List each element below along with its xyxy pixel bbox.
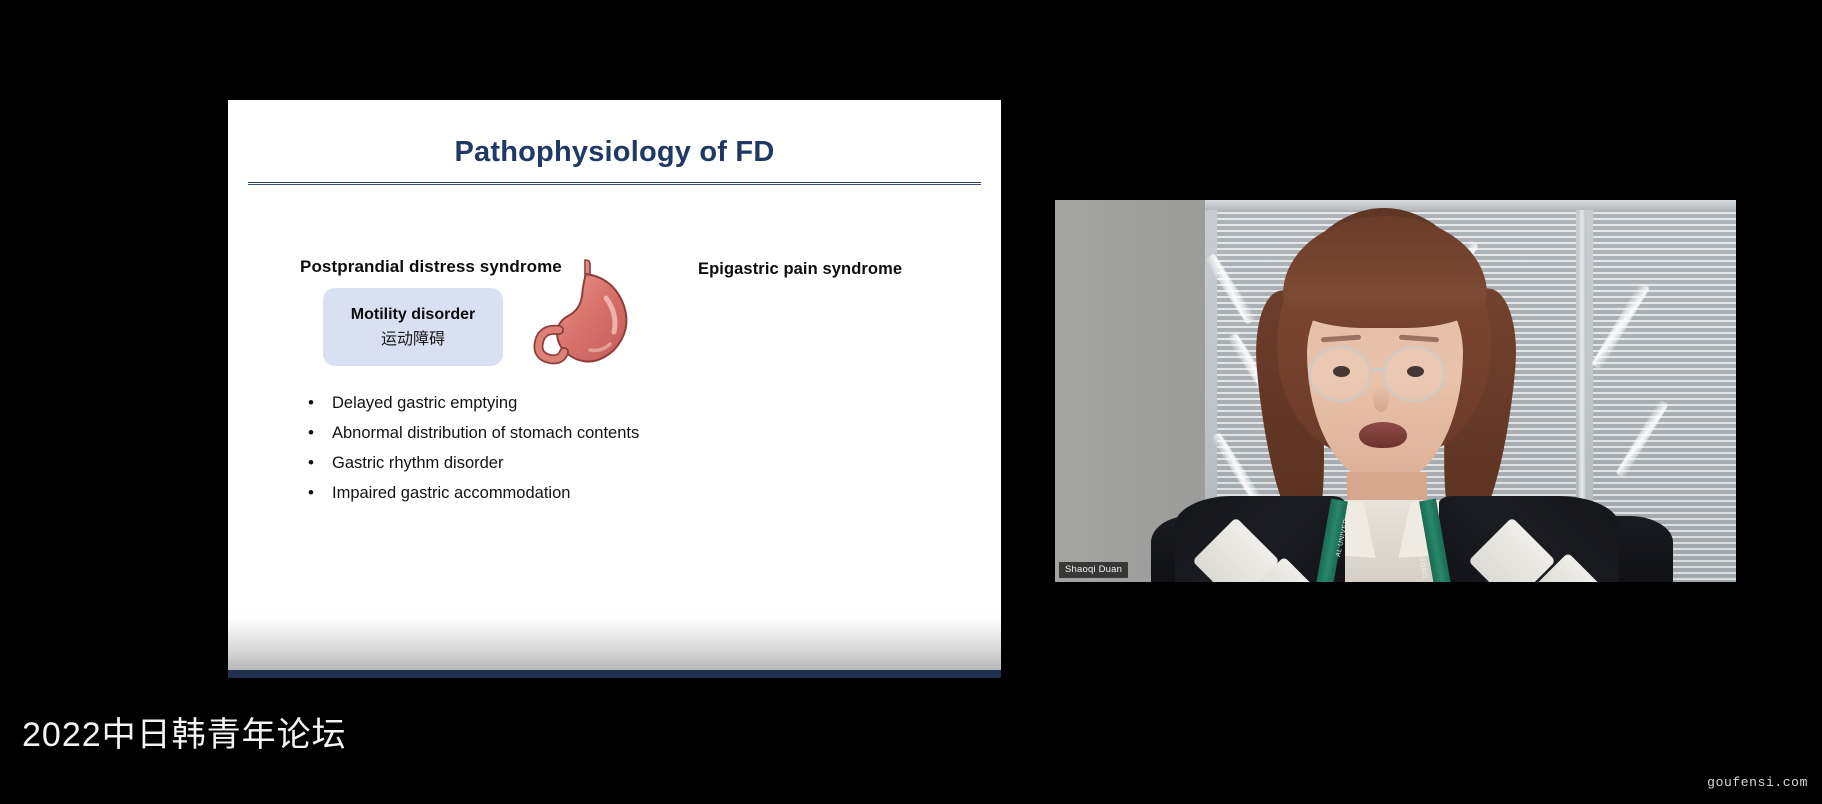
title-divider — [248, 182, 981, 185]
bullet-icon: • — [308, 388, 332, 418]
bullet-icon: • — [308, 478, 332, 508]
window-frame-top — [1205, 200, 1736, 210]
list-item: • Delayed gastric emptying — [308, 388, 868, 418]
watermark: goufensi.com — [1707, 775, 1808, 790]
slide-body: Pathophysiology of FD Postprandial distr… — [228, 100, 1001, 608]
eyeglasses-left-lens — [1309, 346, 1371, 402]
motility-disorder-box: Motility disorder 运动障碍 — [323, 288, 503, 366]
list-item: • Impaired gastric accommodation — [308, 478, 868, 508]
bullet-icon: • — [308, 448, 332, 478]
forum-caption: 2022中日韩青年论坛 — [22, 707, 347, 756]
slide-title: Pathophysiology of FD — [228, 136, 1001, 169]
list-item: • Abnormal distribution of stomach conte… — [308, 418, 868, 448]
bullet-list: • Delayed gastric emptying • Abnormal di… — [308, 388, 868, 508]
left-column-heading: Postprandial distress syndrome — [300, 257, 562, 277]
bullet-text: Gastric rhythm disorder — [332, 448, 503, 478]
nose — [1373, 386, 1389, 412]
mouth — [1359, 422, 1407, 448]
motility-label-en: Motility disorder — [351, 306, 475, 324]
bullet-icon: • — [308, 418, 332, 448]
presentation-stage: Pathophysiology of FD Postprandial distr… — [0, 0, 1822, 804]
presentation-slide[interactable]: Pathophysiology of FD Postprandial distr… — [228, 100, 1001, 678]
eyeglasses-right-lens — [1383, 346, 1445, 402]
stomach-illustration — [528, 258, 638, 376]
eyeglasses-bridge — [1371, 368, 1385, 371]
motility-label-zh: 运动障碍 — [381, 325, 445, 349]
bullet-text: Abnormal distribution of stomach content… — [332, 418, 639, 448]
slide-footer-bar — [228, 670, 1001, 678]
participant-name-label: Shaoqi Duan — [1059, 562, 1128, 578]
video-participant-tile[interactable]: HYOGO AL UNIVER Shaoqi Duan — [1055, 200, 1736, 582]
slide-footer-gradient — [228, 608, 1001, 670]
bullet-text: Impaired gastric accommodation — [332, 478, 570, 508]
right-column-heading: Epigastric pain syndrome — [698, 260, 902, 279]
list-item: • Gastric rhythm disorder — [308, 448, 868, 478]
bullet-text: Delayed gastric emptying — [332, 388, 517, 418]
